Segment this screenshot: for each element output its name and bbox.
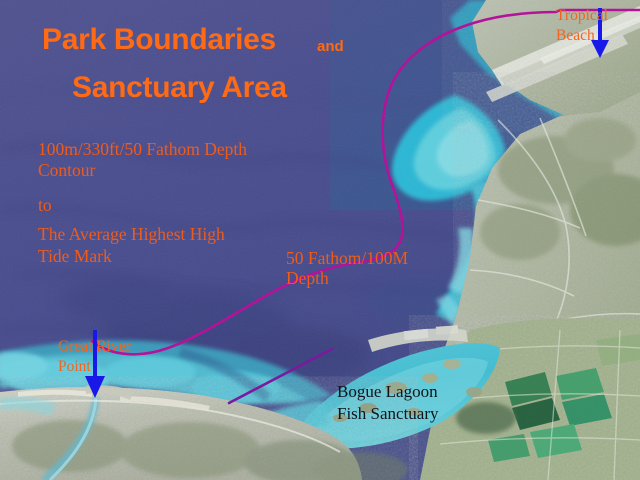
boundary-description-line-2: Contour <box>38 160 95 181</box>
fish-sanctuary-label-line-2: Fish Sanctuary <box>337 404 439 424</box>
satellite-map-slide: Park Boundaries and Sanctuary Area 100m/… <box>0 0 640 480</box>
park-boundary-contour-line <box>92 10 640 354</box>
slide-title-line-1: Park Boundaries <box>42 22 276 57</box>
depth-contour-label-line-2: Depth <box>286 268 329 289</box>
tropical-beach-label-line-2: Beach <box>556 27 595 45</box>
boundary-description-line-3: to <box>38 195 52 216</box>
boundary-description-line-5: Tide Mark <box>38 246 112 267</box>
boundary-description-line-1: 100m/330ft/50 Fathom Depth <box>38 139 247 160</box>
great-river-point-label-line-1: Great River <box>58 338 131 356</box>
depth-contour-label-line-1: 50 Fathom/100M <box>286 248 408 269</box>
tropical-beach-label-line-1: Tropical <box>556 7 608 25</box>
bogue-lagoon-label-line-1: Bogue Lagoon <box>337 382 438 402</box>
slide-title-line-2: Sanctuary Area <box>72 70 287 105</box>
great-river-point-label-line-2: Point <box>58 358 91 376</box>
sanctuary-boundary-line <box>229 349 332 403</box>
slide-title-conjunction: and <box>317 38 344 56</box>
boundary-description-line-4: The Average Highest High <box>38 224 225 245</box>
